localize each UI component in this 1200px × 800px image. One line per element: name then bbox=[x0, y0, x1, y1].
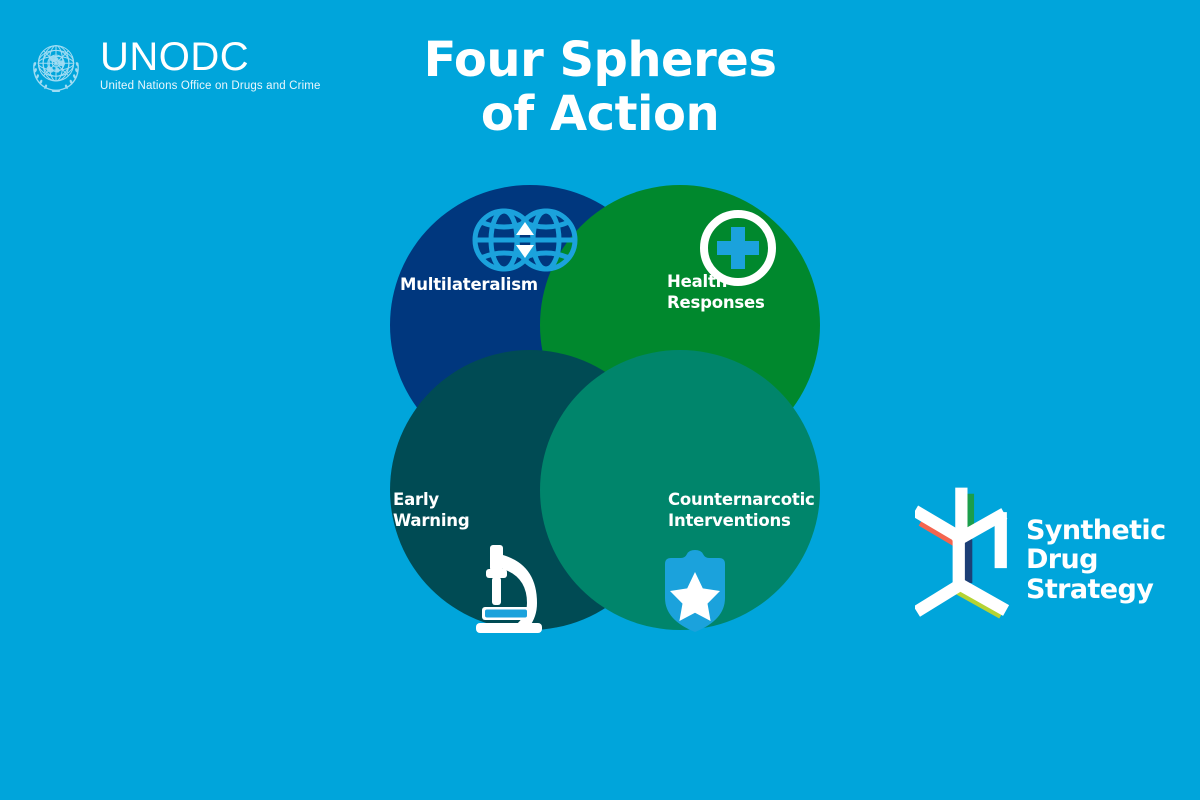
synthetic-drug-strategy-text: Synthetic Drug Strategy bbox=[1026, 516, 1165, 603]
sphere-label-counternarcotic-line-2: Interventions bbox=[668, 511, 791, 530]
sphere-label-health-responses-line-1: Health bbox=[667, 272, 727, 291]
sphere-label-counternarcotic-line-1: Counternarcotic bbox=[668, 490, 815, 509]
unodc-logo: UNODC United Nations Office on Drugs and… bbox=[22, 32, 321, 100]
page-title-line-1: Four Spheres bbox=[424, 32, 777, 88]
sds-line-3: Strategy bbox=[1026, 575, 1165, 604]
unodc-acronym: UNODC bbox=[100, 38, 321, 76]
synthetic-drug-strategy-logo: Synthetic Drug Strategy bbox=[915, 485, 1165, 635]
sphere-label-early-warning-line-1: Early bbox=[393, 490, 439, 509]
sds-line-2: Drug bbox=[1026, 545, 1165, 574]
sds-line-1: Synthetic bbox=[1026, 516, 1165, 545]
page-title-line-2: of Action bbox=[390, 88, 810, 142]
unodc-tagline: United Nations Office on Drugs and Crime bbox=[100, 80, 321, 92]
page-title: Four Spheres of Action bbox=[390, 34, 810, 142]
sphere-label-health-responses-line-2: Responses bbox=[667, 293, 765, 312]
sphere-label-multilateralism: Multilateralism bbox=[400, 275, 538, 294]
molecule-hexagon-icon bbox=[915, 485, 1020, 635]
sphere-label-early-warning-line-2: Warning bbox=[393, 511, 469, 530]
venn-diagram: Multilateralism Health Responses Early W… bbox=[350, 160, 860, 660]
infographic-canvas: UNODC United Nations Office on Drugs and… bbox=[0, 0, 1200, 800]
unodc-wordmark: UNODC United Nations Office on Drugs and… bbox=[100, 32, 321, 92]
un-emblem-icon bbox=[22, 32, 90, 100]
